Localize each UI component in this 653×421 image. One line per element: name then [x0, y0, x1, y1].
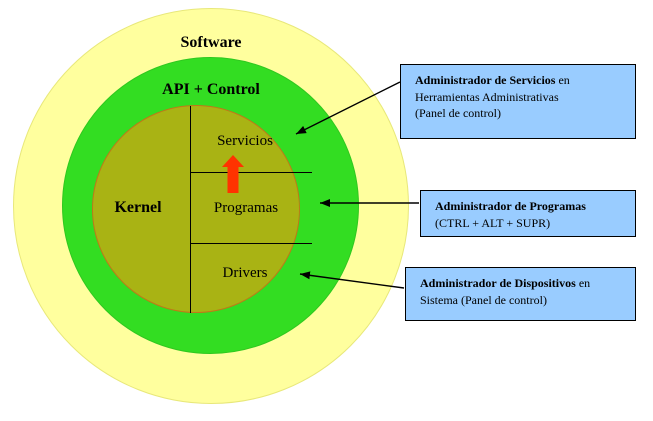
sector-label-drivers: Drivers — [190, 265, 300, 282]
callout-servicios-line2: Herramientas Administrativas — [415, 89, 626, 106]
callout-programas[interactable]: Administrador de Programas (CTRL + ALT +… — [420, 190, 636, 237]
sector-label-programas: Programas — [190, 200, 302, 217]
callout-dispositivos-line1: Administrador de Dispositivos en — [420, 275, 626, 292]
callout-programas-bold: Administrador de Programas — [435, 199, 586, 213]
callout-servicios-rest: en — [555, 73, 569, 87]
up-arrow-icon — [222, 155, 244, 193]
callout-servicios-bold: Administrador de Servicios — [415, 73, 555, 87]
callout-programas-line1: Administrador de Programas — [435, 198, 626, 215]
ring-label-api-control: API + Control — [0, 81, 422, 99]
kernel-divider-servicios-programas — [190, 172, 312, 173]
callout-dispositivos-line2: Sistema (Panel de control) — [420, 292, 626, 309]
callout-programas-line2: (CTRL + ALT + SUPR) — [435, 215, 626, 232]
sector-label-servicios: Servicios — [190, 133, 300, 150]
callout-servicios-line1: Administrador de Servicios en — [415, 72, 626, 89]
kernel-divider-programas-drivers — [190, 243, 312, 244]
ring-label-software: Software — [0, 34, 422, 52]
callout-dispositivos-rest: en — [576, 276, 590, 290]
callout-servicios-line3: (Panel de control) — [415, 105, 626, 122]
callout-dispositivos[interactable]: Administrador de Dispositivos en Sistema… — [405, 267, 636, 321]
callout-servicios[interactable]: Administrador de Servicios en Herramient… — [400, 64, 636, 139]
callout-dispositivos-bold: Administrador de Dispositivos — [420, 276, 576, 290]
os-architecture-diagram: Software API + Control Kernel Servicios … — [0, 0, 653, 421]
ring-label-kernel: Kernel — [92, 199, 184, 217]
